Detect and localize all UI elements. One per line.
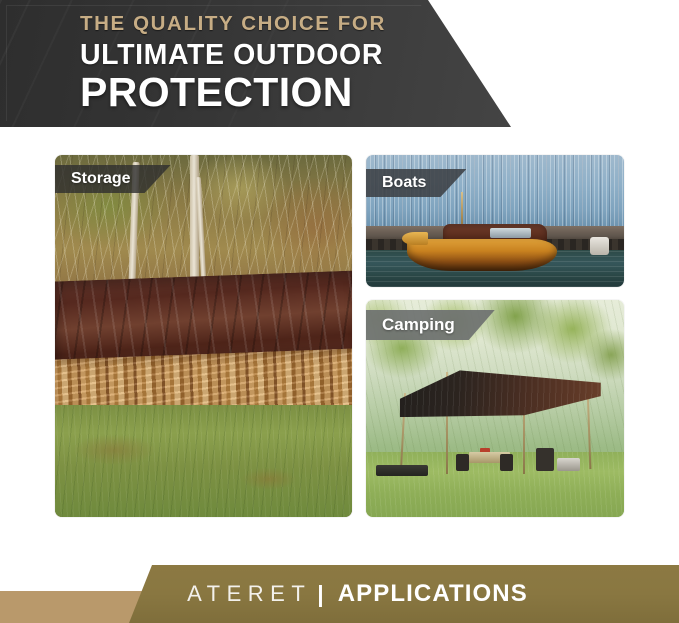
- camping-bench: [376, 465, 428, 476]
- camping-chair: [500, 454, 513, 471]
- header-title-line-2: PROTECTION: [80, 72, 500, 113]
- storage-grass-foreground: [55, 405, 352, 517]
- footer-text-block: ATERET | APPLICATIONS: [0, 565, 679, 623]
- boat-windshield: [490, 228, 531, 239]
- camping-cooler: [557, 458, 580, 471]
- header-title-line-1: ULTIMATE OUTDOOR: [80, 41, 500, 70]
- footer-section-label: APPLICATIONS: [338, 580, 528, 608]
- photo-card-storage[interactable]: Storage: [55, 155, 352, 517]
- footer-divider: |: [317, 581, 323, 608]
- camping-chair: [536, 448, 554, 472]
- header-eyebrow: THE QUALITY CHOICE FOR: [80, 14, 500, 35]
- application-photo-grid: Storage Boats Camping: [55, 155, 624, 517]
- camping-chair: [456, 454, 469, 471]
- boat-fender: [590, 237, 608, 255]
- header-text-block: THE QUALITY CHOICE FOR ULTIMATE OUTDOOR …: [80, 14, 500, 113]
- boat-wooden-hull: [407, 239, 557, 271]
- boat-bow: [402, 232, 428, 245]
- photo-card-boats[interactable]: Boats: [366, 155, 624, 287]
- photo-card-camping[interactable]: Camping: [366, 300, 624, 517]
- brand-name: ATERET: [187, 581, 311, 607]
